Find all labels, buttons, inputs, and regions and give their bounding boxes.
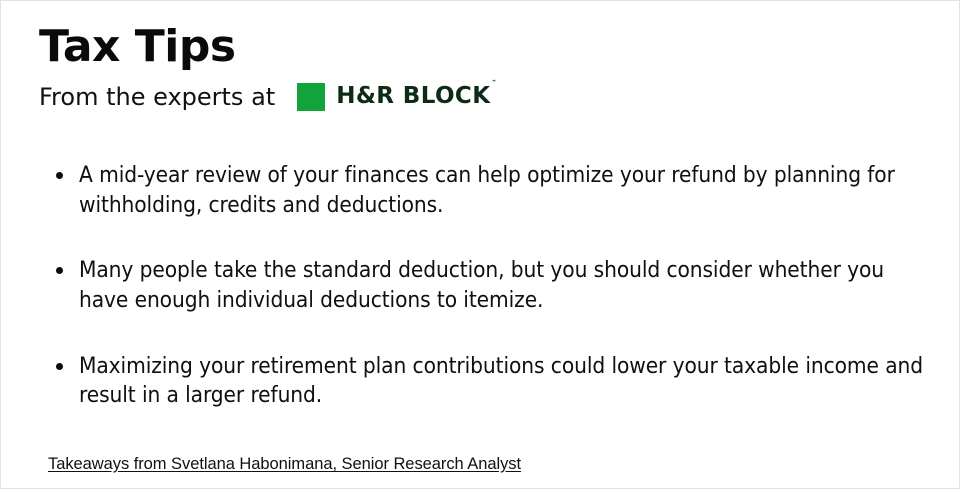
bullet-dot-icon [56, 363, 63, 370]
list-item: A mid-year review of your finances can h… [53, 161, 923, 220]
subtitle-text: From the experts at [39, 85, 275, 109]
green-square-icon [297, 83, 325, 111]
list-item: Many people take the standard deduction,… [53, 256, 923, 315]
list-item-text: Maximizing your retirement plan contribu… [79, 352, 923, 411]
hr-block-wordmark-text: H&R BLOCK [336, 83, 490, 109]
slide-header: Tax Tips From the experts at H&R BLOCK˝ [39, 23, 919, 113]
subtitle-row: From the experts at H&R BLOCK˝ [39, 81, 919, 113]
list-item-text: Many people take the standard deduction,… [79, 256, 923, 315]
list-item-text: A mid-year review of your finances can h… [79, 161, 923, 220]
tips-list: A mid-year review of your finances can h… [53, 161, 923, 411]
attribution-link[interactable]: Takeaways from Svetlana Habonimana, Seni… [48, 455, 521, 474]
trademark-icon: ˝ [491, 80, 496, 90]
bullet-dot-icon [56, 172, 63, 179]
page-title: Tax Tips [39, 23, 919, 71]
list-item: Maximizing your retirement plan contribu… [53, 352, 923, 411]
hr-block-logo: H&R BLOCK˝ [297, 82, 495, 112]
tax-tips-slide: Tax Tips From the experts at H&R BLOCK˝ … [0, 0, 960, 489]
hr-block-wordmark: H&R BLOCK˝ [336, 85, 495, 108]
bullet-dot-icon [56, 267, 63, 274]
